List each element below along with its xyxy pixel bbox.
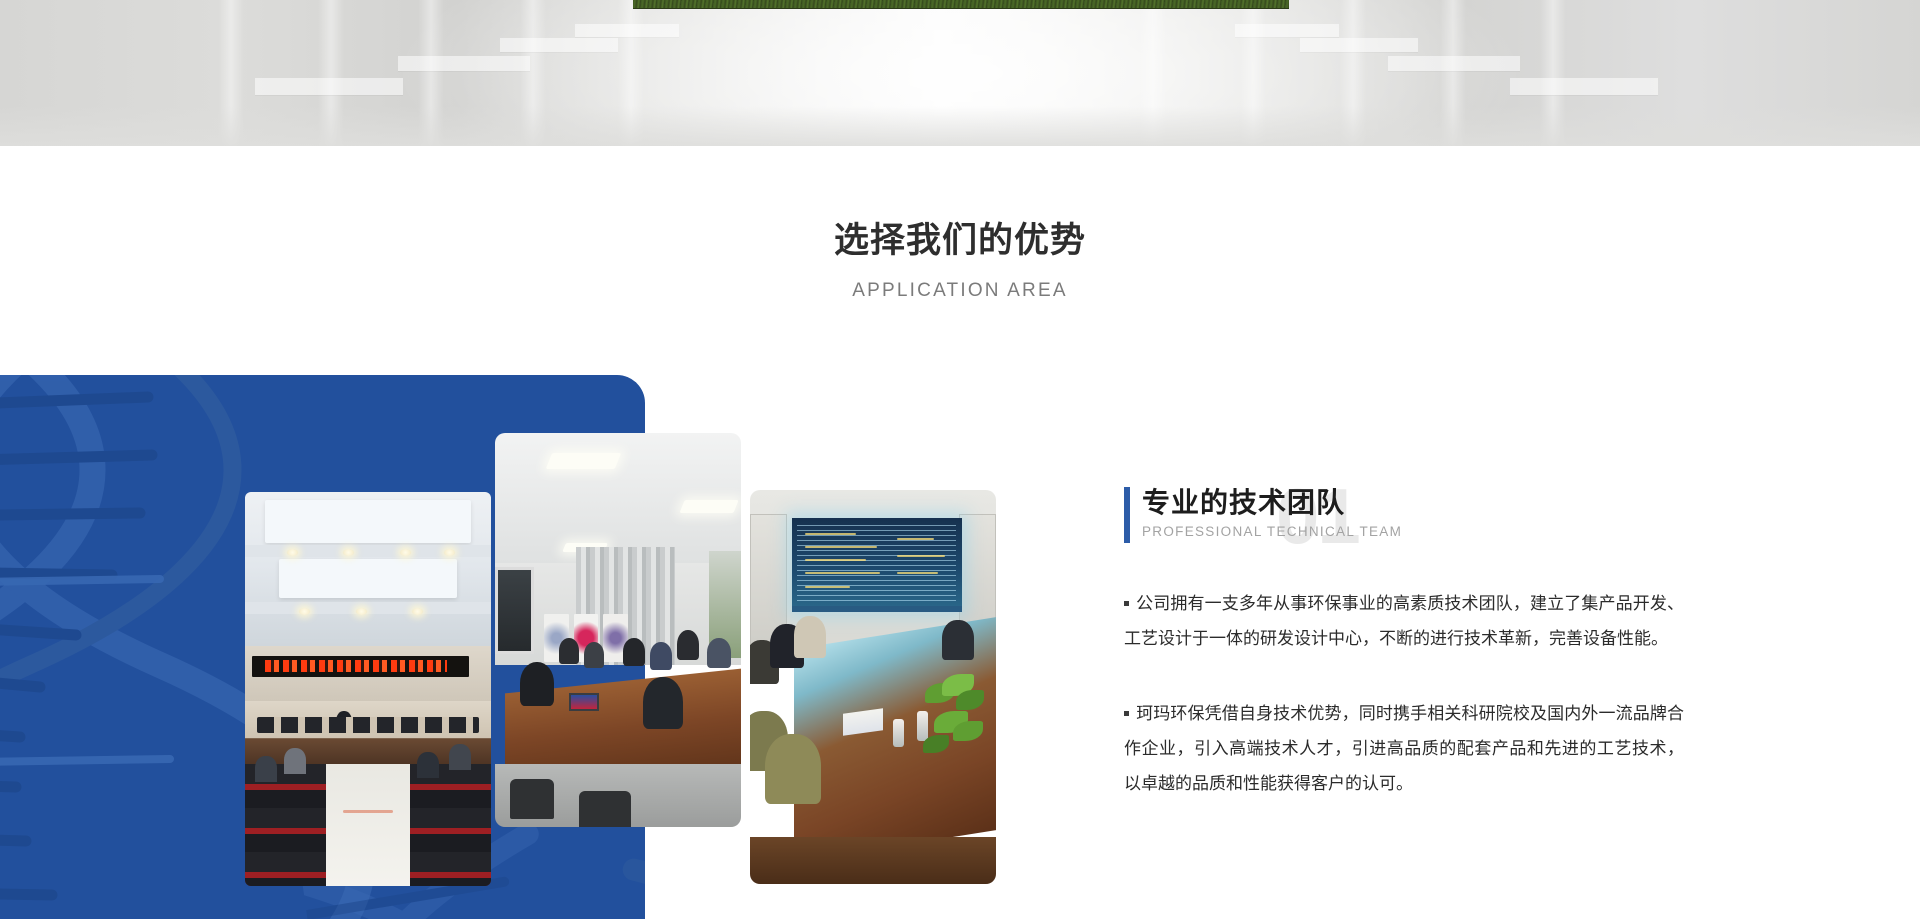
- feature-paragraph-1: 公司拥有一支多年从事环保事业的高素质技术团队，建立了集产品开发、工艺设计于一体的…: [1124, 586, 1684, 656]
- photo-projector-meeting[interactable]: [750, 490, 996, 884]
- page-root: 选择我们的优势 APPLICATION AREA: [0, 0, 1920, 919]
- center-aisle: [326, 764, 410, 886]
- section-header: 选择我们的优势 APPLICATION AREA: [0, 146, 1920, 302]
- feature-title-en: PROFESSIONAL TECHNICAL TEAM: [1142, 524, 1684, 539]
- page-subtitle: APPLICATION AREA: [0, 280, 1920, 302]
- feature-paragraph-1-text: 公司拥有一支多年从事环保事业的高素质技术团队，建立了集产品开发、工艺设计于一体的…: [1124, 594, 1684, 648]
- feature-content: 01 专业的技术团队 PROFESSIONAL TECHNICAL TEAM 公…: [1124, 485, 1684, 801]
- hero-banner: [0, 0, 1920, 146]
- photo-conference-room[interactable]: [495, 433, 741, 827]
- feature-paragraph-2-text: 珂玛环保凭借自身技术优势，同时携手相关科研院校及国内外一流品牌合作企业，引入高端…: [1124, 704, 1684, 793]
- page-title: 选择我们的优势: [0, 220, 1920, 262]
- feature-title-cn: 专业的技术团队: [1142, 485, 1684, 520]
- feature-paragraph-2: 珂玛环保凭借自身技术优势，同时携手相关科研院校及国内外一流品牌合作企业，引入高端…: [1124, 696, 1684, 801]
- projection-screen: [792, 518, 962, 613]
- banner-floor-gradient: [0, 106, 1920, 146]
- display-board: [495, 567, 534, 654]
- potted-plant: [917, 671, 991, 789]
- grass-strip: [633, 0, 1289, 9]
- photo-lecture-hall[interactable]: [245, 492, 491, 886]
- foreground-table-edge: [750, 837, 996, 884]
- led-banner-text: [265, 660, 447, 672]
- feature-heading: 01 专业的技术团队 PROFESSIONAL TECHNICAL TEAM: [1124, 485, 1684, 557]
- accent-bar: [1124, 487, 1130, 543]
- bullet-icon: [1124, 711, 1129, 716]
- bullet-icon: [1124, 601, 1129, 606]
